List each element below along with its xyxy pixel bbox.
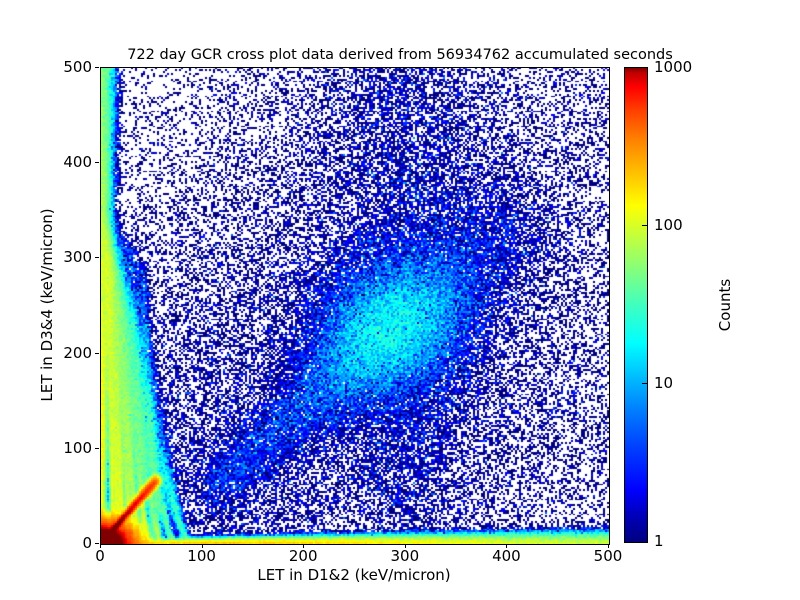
colorbar-tick-label: 1000 [654,58,692,76]
y-tick-mark [95,67,99,68]
colorbar[interactable]: 1101001000 [624,67,648,543]
x-tick-label: 300 [390,547,419,565]
y-tick-mark [95,353,99,354]
x-axis-label: LET in D1&2 (keV/micron) [100,566,608,584]
x-tick-label: 100 [187,547,216,565]
x-tick-label: 500 [594,547,623,565]
colorbar-tick-label: 1 [654,532,664,550]
x-tick-label: 0 [95,547,105,565]
x-tick-label: 200 [289,547,318,565]
colorbar-tick-mark [642,383,647,384]
colorbar-tick-label: 10 [654,374,673,392]
gcr-cross-plot-figure: 722 day GCR cross plot data derived from… [0,0,800,600]
plot-area[interactable] [100,67,610,545]
colorbar-label: Counts [716,67,734,543]
colorbar-tick-label: 100 [654,216,683,234]
y-tick-mark [95,257,99,258]
y-axis-label: LET in D3&4 (keV/micron) [38,67,56,543]
colorbar-tick-mark [642,225,647,226]
y-tick-mark [95,162,99,163]
density-heatmap-canvas [101,68,609,544]
y-tick-mark [95,543,99,544]
x-tick-label: 400 [492,547,521,565]
y-tick-mark [95,448,99,449]
colorbar-gradient [624,67,648,543]
